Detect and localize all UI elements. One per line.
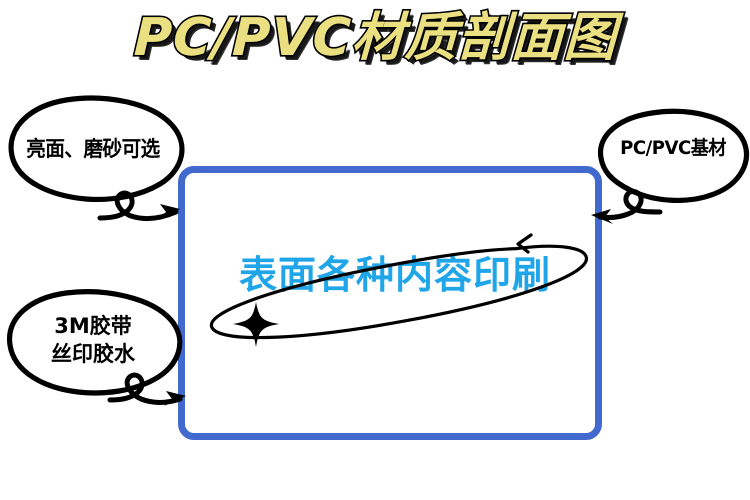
callout-arrow-bottom-left bbox=[110, 375, 180, 402]
diagram-canvas: PC/PVC材质剖面图 表面各种内容印刷 亮面、磨砂可选 3M胶带 丝印 bbox=[0, 0, 750, 500]
callout-label-right: PC/PVC基材 bbox=[606, 138, 741, 159]
callout-arrow-right bbox=[600, 191, 660, 217]
callout-label-top-left: 亮面、磨砂可选 bbox=[14, 138, 172, 162]
substrate-panel bbox=[178, 166, 602, 440]
callout-arrowhead-top-left bbox=[158, 204, 180, 219]
callout-label-bottom-left-line2: 丝印胶水 bbox=[18, 343, 168, 367]
page-title-container: PC/PVC材质剖面图 bbox=[0, 2, 750, 82]
page-title: PC/PVC材质剖面图 bbox=[132, 2, 617, 74]
callout-label-bottom-left-line1: 3M胶带 bbox=[54, 314, 132, 338]
center-label: 表面各种内容印刷 bbox=[215, 252, 575, 298]
callout-arrow-top-left bbox=[100, 193, 176, 219]
callout-label-bottom-left: 3M胶带 丝印胶水 bbox=[18, 315, 168, 366]
